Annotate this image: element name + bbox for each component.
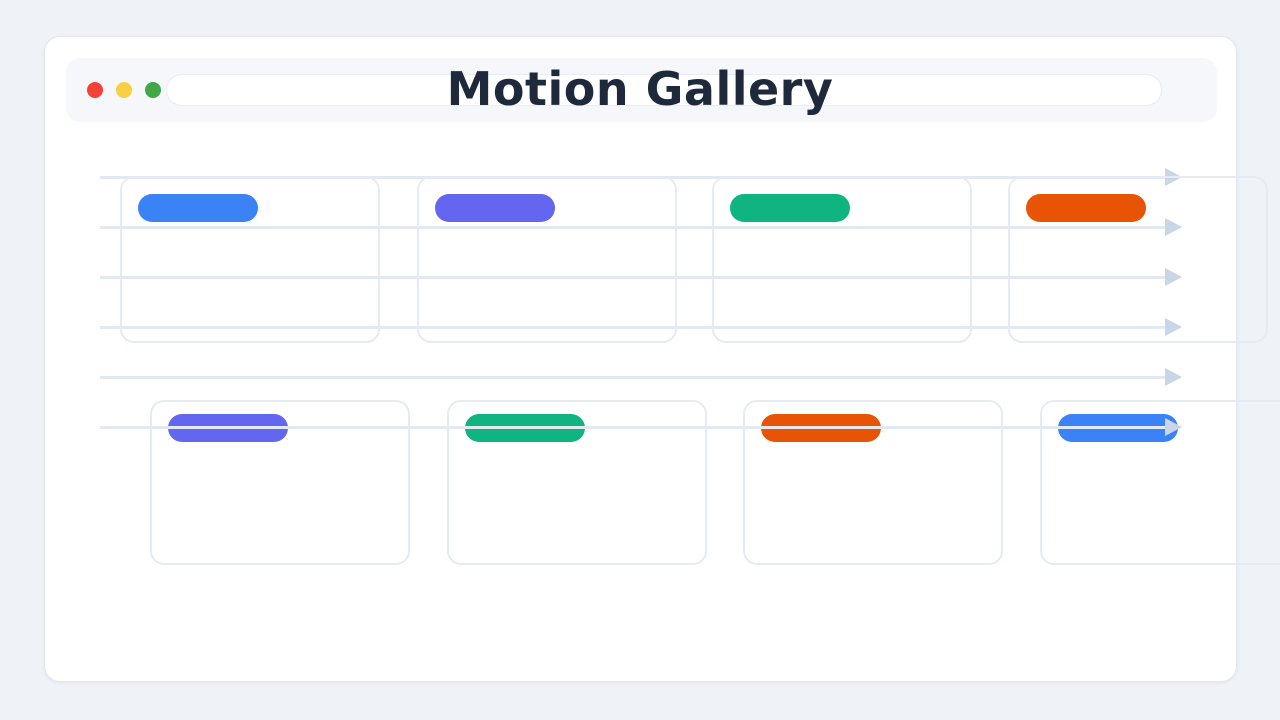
card-blue-accent-pill	[138, 194, 258, 222]
card-purple-accent-pill	[435, 194, 555, 222]
card-orange-accent-pill	[1026, 194, 1146, 222]
card-green-accent-pill	[730, 194, 850, 222]
card-purple-2-accent-pill	[168, 414, 288, 442]
card-green-2-accent-pill	[465, 414, 585, 442]
card-purple-2[interactable]	[150, 400, 410, 565]
card-blue-2-accent-pill	[1058, 414, 1178, 442]
card-green-2[interactable]	[447, 400, 707, 565]
gallery-card-layer	[0, 0, 1280, 720]
card-orange[interactable]	[1008, 176, 1268, 343]
card-blue[interactable]	[120, 176, 380, 343]
card-blue-2[interactable]	[1040, 400, 1280, 565]
card-purple[interactable]	[417, 176, 677, 343]
card-orange-2[interactable]	[743, 400, 1003, 565]
card-orange-2-accent-pill	[761, 414, 881, 442]
card-green[interactable]	[712, 176, 972, 343]
